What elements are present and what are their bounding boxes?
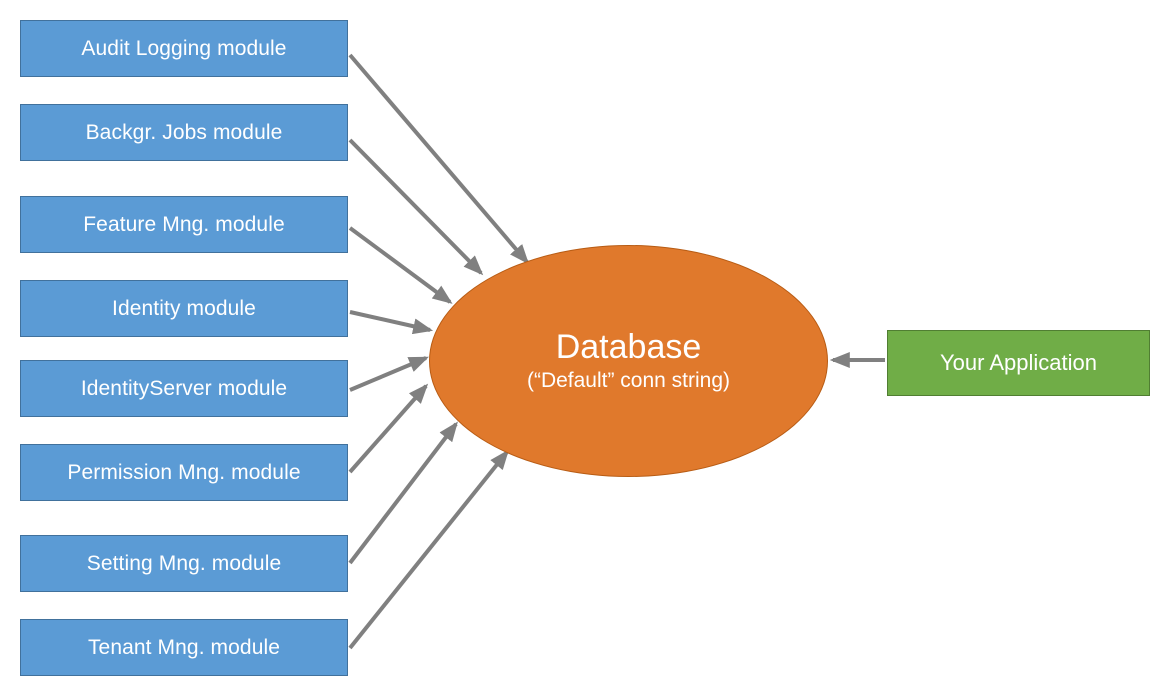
module-label: IdentityServer module	[81, 377, 287, 400]
module-box[interactable]: Setting Mng. module	[20, 535, 348, 592]
connector-arrow	[350, 228, 450, 302]
connector-arrow	[350, 312, 430, 330]
module-box[interactable]: Tenant Mng. module	[20, 619, 348, 676]
module-label: Identity module	[112, 297, 256, 320]
your-application-label: Your Application	[940, 350, 1097, 376]
module-label: Backgr. Jobs module	[86, 121, 283, 144]
your-application-node[interactable]: Your Application	[887, 330, 1150, 396]
module-box[interactable]: Backgr. Jobs module	[20, 104, 348, 161]
connector-arrow	[350, 452, 507, 648]
module-label: Permission Mng. module	[67, 461, 300, 484]
connector-arrow	[350, 55, 527, 262]
module-label: Tenant Mng. module	[88, 636, 280, 659]
database-subtitle: (“Default” conn string)	[527, 369, 730, 393]
module-label: Feature Mng. module	[83, 213, 285, 236]
connector-arrow	[350, 386, 426, 472]
module-label: Setting Mng. module	[87, 552, 282, 575]
database-title: Database	[556, 328, 702, 367]
module-box[interactable]: Identity module	[20, 280, 348, 337]
diagram-canvas: Audit Logging moduleBackgr. Jobs moduleF…	[0, 0, 1167, 694]
module-label: Audit Logging module	[81, 37, 286, 60]
connector-arrow	[350, 424, 456, 563]
module-box[interactable]: Feature Mng. module	[20, 196, 348, 253]
connector-arrow	[350, 358, 426, 390]
module-box[interactable]: Audit Logging module	[20, 20, 348, 77]
connector-arrow	[350, 140, 481, 273]
database-node[interactable]: Database (“Default” conn string)	[429, 245, 828, 477]
module-box[interactable]: IdentityServer module	[20, 360, 348, 417]
module-box[interactable]: Permission Mng. module	[20, 444, 348, 501]
